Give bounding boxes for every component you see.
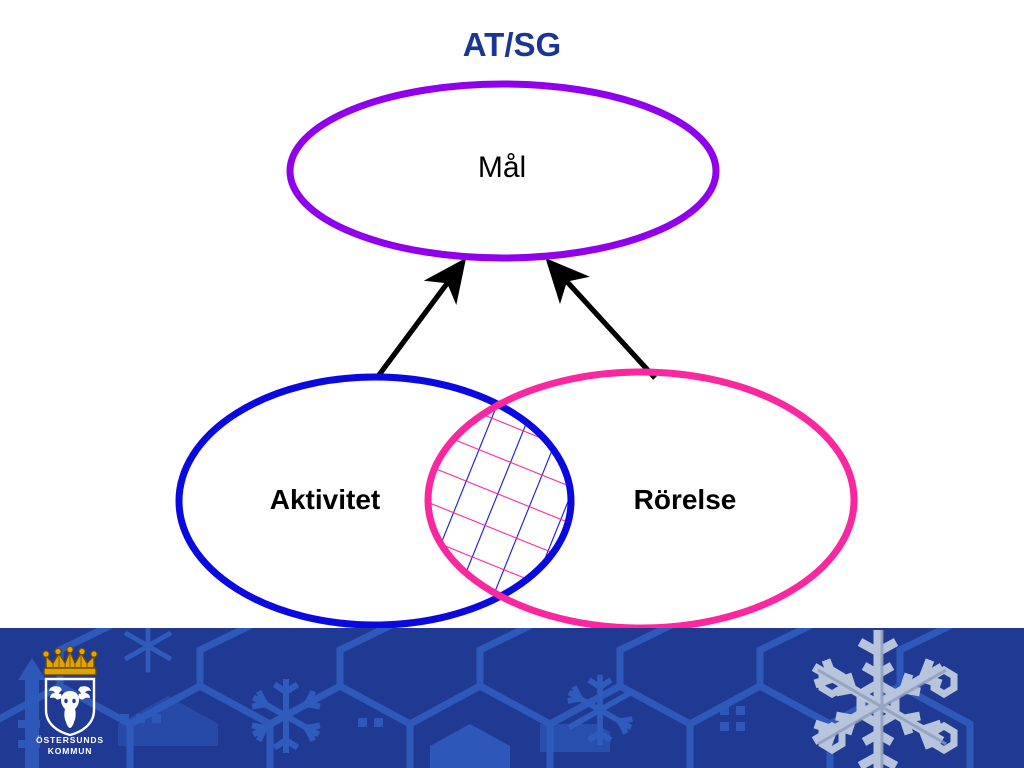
logo-line-2: KOMMUN — [48, 746, 93, 756]
slide-canvas: AT/SG — [0, 0, 1024, 768]
ellipse-label-mal: Mål — [352, 149, 652, 187]
ellipse-label-rorelse: Rörelse — [560, 482, 810, 518]
arrow-aktivitet-to-mal — [376, 262, 463, 379]
arrow-rorelse-to-mal — [549, 262, 655, 378]
logo-wordmark: ÖSTERSUNDSKOMMUN — [30, 735, 110, 757]
moose-head-icon — [49, 686, 91, 728]
banner-pattern — [0, 628, 1024, 768]
ellipse-label-aktivitet: Aktivitet — [200, 482, 450, 518]
logo-line-1: ÖSTERSUNDS — [36, 735, 104, 745]
coat-of-arms-icon — [30, 642, 110, 738]
crown-icon — [43, 646, 97, 675]
footer-banner — [0, 628, 1024, 768]
ostersunds-kommun-logo: ÖSTERSUNDSKOMMUN — [30, 642, 110, 762]
